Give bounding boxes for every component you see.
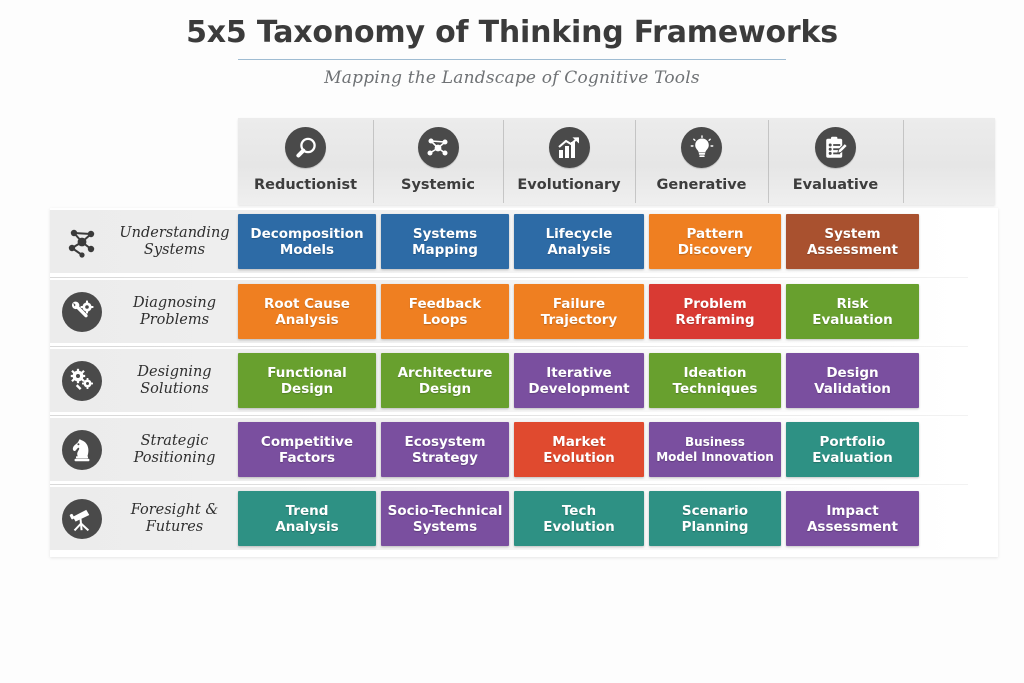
row-header-label-line1: Foresight &	[111, 502, 238, 519]
row-header-label-line1: Strategic	[111, 433, 238, 450]
matrix-cell[interactable]: FailureTrajectory	[514, 284, 644, 339]
gears-icon	[62, 361, 102, 401]
matrix-row-cells: CompetitiveFactorsEcosystemStrategyMarke…	[238, 418, 924, 481]
column-header-label: Systemic	[401, 177, 475, 193]
matrix-cell[interactable]: CompetitiveFactors	[238, 422, 376, 477]
matrix-cell-label-line1: Trend	[275, 503, 338, 519]
matrix-cell-label-line2: Analysis	[275, 519, 338, 535]
title-divider	[238, 59, 786, 60]
clipboard-pencil-icon	[815, 127, 856, 168]
matrix-cell[interactable]: SystemAssessment	[786, 214, 919, 269]
diagram-canvas: 5x5 Taxonomy of Thinking Frameworks Mapp…	[0, 0, 1024, 683]
matrix-cell-label: SystemsMapping	[407, 226, 483, 258]
matrix-cell-label: ArchitectureDesign	[393, 365, 498, 397]
title-block: 5x5 Taxonomy of Thinking Frameworks Mapp…	[0, 14, 1024, 88]
matrix-cell-label-line2: Reframing	[675, 312, 754, 328]
matrix-cell-label-line2: Analysis	[264, 312, 350, 328]
matrix-cell-label: PortfolioEvaluation	[807, 434, 897, 466]
matrix-cell-label-line2: Factors	[261, 450, 353, 466]
column-header-reductionist[interactable]: Reductionist	[238, 118, 373, 205]
matrix-cell-label-line1: Business	[656, 435, 774, 450]
column-header-evolutionary[interactable]: Evolutionary	[503, 118, 635, 205]
matrix-cell-label-line2: Design	[267, 381, 346, 397]
matrix-cell-label: BusinessModel Innovation	[651, 435, 779, 465]
matrix-cell-label-line1: Market	[543, 434, 615, 450]
matrix-cell[interactable]: RiskEvaluation	[786, 284, 919, 339]
chess-knight-icon	[62, 430, 102, 470]
matrix-cell-label: TrendAnalysis	[270, 503, 343, 535]
matrix-cell[interactable]: ProblemReframing	[649, 284, 781, 339]
matrix-cell-label-line2: Assessment	[807, 242, 898, 258]
matrix-cell-label-line1: Lifecycle	[546, 226, 613, 242]
matrix-cell-label: PatternDiscovery	[673, 226, 758, 258]
matrix-cell-label-line1: Feedback	[409, 296, 481, 312]
column-header-evaluative[interactable]: Evaluative	[768, 118, 903, 205]
matrix-cell-label-line1: Problem	[675, 296, 754, 312]
matrix-cell-label: TechEvolution	[538, 503, 620, 535]
matrix-cell[interactable]: EcosystemStrategy	[381, 422, 509, 477]
matrix-cell[interactable]: PatternDiscovery	[649, 214, 781, 269]
matrix-cell-label-line1: Failure	[541, 296, 617, 312]
matrix-cell-label-line1: Scenario	[682, 503, 749, 519]
row-separator	[50, 415, 968, 416]
matrix-cell-label: DecompositionModels	[245, 226, 368, 258]
matrix-cell-label: LifecycleAnalysis	[541, 226, 618, 258]
matrix-cell-label-line2: Design	[398, 381, 493, 397]
matrix-cell[interactable]: BusinessModel Innovation	[649, 422, 781, 477]
row-header-label-line2: Solutions	[111, 381, 238, 398]
matrix-cell-label-line2: Evolution	[543, 519, 615, 535]
matrix-cell-label-line1: Functional	[267, 365, 346, 381]
matrix-cell[interactable]: LifecycleAnalysis	[514, 214, 644, 269]
matrix-row-cells: DecompositionModelsSystemsMappingLifecyc…	[238, 210, 924, 273]
matrix-cell-label-line2: Evaluation	[812, 450, 892, 466]
row-header-label: Foresight &Futures	[111, 502, 238, 536]
row-header-label-line2: Positioning	[111, 450, 238, 467]
row-header-foresight-futures[interactable]: Foresight &Futures	[50, 487, 238, 550]
matrix-cell[interactable]: ScenarioPlanning	[649, 491, 781, 546]
matrix-cell-label: ProblemReframing	[670, 296, 759, 328]
matrix-cell-label-line1: Portfolio	[812, 434, 892, 450]
matrix-cell-label-line2: Trajectory	[541, 312, 617, 328]
matrix-cell-label: FeedbackLoops	[404, 296, 486, 328]
matrix-cell[interactable]: ImpactAssessment	[786, 491, 919, 546]
matrix-cell-label: CompetitiveFactors	[256, 434, 358, 466]
matrix-cell[interactable]: IterativeDevelopment	[514, 353, 644, 408]
column-header-systemic[interactable]: Systemic	[373, 118, 503, 205]
matrix-cell[interactable]: Root CauseAnalysis	[238, 284, 376, 339]
matrix-row: StrategicPositioningCompetitiveFactorsEc…	[50, 418, 958, 481]
matrix-cell-label-line1: Iterative	[528, 365, 629, 381]
growth-chart-icon	[549, 127, 590, 168]
matrix-cell-label-line2: Development	[528, 381, 629, 397]
matrix-cell[interactable]: PortfolioEvaluation	[786, 422, 919, 477]
matrix-cell-label-line1: System	[807, 226, 898, 242]
matrix-cell-label: SystemAssessment	[802, 226, 903, 258]
matrix-cell-label-line1: Decomposition	[250, 226, 363, 242]
matrix-cell[interactable]: ArchitectureDesign	[381, 353, 509, 408]
matrix-cell-label: Root CauseAnalysis	[259, 296, 355, 328]
matrix-cell-label-line1: Competitive	[261, 434, 353, 450]
column-header-generative[interactable]: Generative	[635, 118, 768, 205]
matrix-cell-label: IterativeDevelopment	[523, 365, 634, 397]
matrix-cell-label-line1: Socio-Technical	[388, 503, 503, 519]
row-header-diagnosing-problems[interactable]: DiagnosingProblems	[50, 280, 238, 343]
column-header-label: Reductionist	[254, 177, 357, 193]
page-title: 5x5 Taxonomy of Thinking Frameworks	[0, 14, 1024, 52]
column-header-label: Generative	[656, 177, 746, 193]
column-header-label: Evaluative	[793, 177, 878, 193]
matrix-body: UnderstandingSystemsDecompositionModelsS…	[50, 208, 998, 557]
matrix-row-cells: Root CauseAnalysisFeedbackLoopsFailureTr…	[238, 280, 924, 343]
matrix-cell[interactable]: Socio-TechnicalSystems	[381, 491, 509, 546]
row-separator	[50, 346, 968, 347]
row-header-label-line2: Futures	[111, 519, 238, 536]
matrix-cell-label: FailureTrajectory	[536, 296, 622, 328]
telescope-icon	[62, 499, 102, 539]
matrix-cell-label-line2: Assessment	[807, 519, 898, 535]
row-header-label: DiagnosingProblems	[111, 295, 238, 329]
matrix-cell[interactable]: TechEvolution	[514, 491, 644, 546]
matrix-cell-label-line2: Validation	[814, 381, 891, 397]
matrix-cell-label-line1: Architecture	[398, 365, 493, 381]
matrix-cell-label: IdeationTechniques	[668, 365, 763, 397]
molecule-network-icon	[62, 222, 102, 262]
row-header-label: StrategicPositioning	[111, 433, 238, 467]
magnifier-icon	[285, 127, 326, 168]
matrix-cell[interactable]: DecompositionModels	[238, 214, 376, 269]
matrix-cell[interactable]: FeedbackLoops	[381, 284, 509, 339]
matrix-cell-label-line2: Techniques	[673, 381, 758, 397]
row-header-label-line1: Designing	[111, 364, 238, 381]
matrix-cell-label-line2: Systems	[388, 519, 503, 535]
matrix-cell-label-line1: Impact	[807, 503, 898, 519]
network-nodes-icon	[418, 127, 459, 168]
row-header-label-line1: Understanding	[111, 225, 238, 242]
row-header-label-line2: Problems	[111, 312, 238, 329]
matrix-cell-label-line2: Model Innovation	[656, 450, 774, 465]
matrix-cell-label-line2: Analysis	[546, 242, 613, 258]
column-header-label: Evolutionary	[517, 177, 620, 193]
matrix-cell[interactable]: FunctionalDesign	[238, 353, 376, 408]
matrix-cell-label: ImpactAssessment	[802, 503, 903, 535]
matrix-cell[interactable]: SystemsMapping	[381, 214, 509, 269]
matrix-cell[interactable]: MarketEvolution	[514, 422, 644, 477]
row-header-strategic-positioning[interactable]: StrategicPositioning	[50, 418, 238, 481]
row-header-label-line2: Systems	[111, 242, 238, 259]
matrix-cell-label-line1: Tech	[543, 503, 615, 519]
matrix-cell[interactable]: TrendAnalysis	[238, 491, 376, 546]
matrix-cell-label: DesignValidation	[809, 365, 896, 397]
matrix-cell-label-line1: Risk	[812, 296, 892, 312]
column-header-band: ReductionistSystemicEvolutionaryGenerati…	[238, 118, 995, 205]
matrix-row: DiagnosingProblemsRoot CauseAnalysisFeed…	[50, 280, 958, 343]
matrix-cell-label-line2: Discovery	[678, 242, 753, 258]
matrix-cell-label: Socio-TechnicalSystems	[383, 503, 508, 535]
matrix-row: UnderstandingSystemsDecompositionModelsS…	[50, 210, 958, 273]
matrix-cell-label-line2: Evolution	[543, 450, 615, 466]
matrix-cell-label-line1: Design	[814, 365, 891, 381]
matrix-cell-label-line2: Mapping	[412, 242, 478, 258]
row-separator	[50, 484, 968, 485]
matrix-cell-label-line2: Models	[250, 242, 363, 258]
row-header-label: DesigningSolutions	[111, 364, 238, 398]
matrix-cell-label-line2: Strategy	[404, 450, 485, 466]
matrix-cell-label-line1: Pattern	[678, 226, 753, 242]
matrix-row: Foresight &FuturesTrendAnalysisSocio-Tec…	[50, 487, 958, 550]
matrix-row-cells: TrendAnalysisSocio-TechnicalSystemsTechE…	[238, 487, 924, 550]
row-separator	[50, 277, 968, 278]
page-subtitle: Mapping the Landscape of Cognitive Tools	[0, 68, 1024, 88]
matrix-cell-label-line1: Ideation	[673, 365, 758, 381]
matrix-cell-label-line1: Systems	[412, 226, 478, 242]
matrix-cell-label: ScenarioPlanning	[677, 503, 754, 535]
matrix-row: DesigningSolutionsFunctionalDesignArchit…	[50, 349, 958, 412]
matrix-cell[interactable]: IdeationTechniques	[649, 353, 781, 408]
lightbulb-icon	[681, 127, 722, 168]
matrix-cell-label-line1: Ecosystem	[404, 434, 485, 450]
matrix-cell-label: FunctionalDesign	[262, 365, 351, 397]
row-header-designing-solutions[interactable]: DesigningSolutions	[50, 349, 238, 412]
matrix-cell-label-line2: Evaluation	[812, 312, 892, 328]
matrix-cell[interactable]: DesignValidation	[786, 353, 919, 408]
matrix-cell-label: MarketEvolution	[538, 434, 620, 466]
matrix-row-cells: FunctionalDesignArchitectureDesignIterat…	[238, 349, 924, 412]
row-header-label-line1: Diagnosing	[111, 295, 238, 312]
wrench-gear-icon	[62, 292, 102, 332]
column-header-spacer	[903, 118, 995, 205]
matrix-cell-label-line2: Loops	[409, 312, 481, 328]
matrix-cell-label: RiskEvaluation	[807, 296, 897, 328]
matrix-cell-label: EcosystemStrategy	[399, 434, 490, 466]
row-header-label: UnderstandingSystems	[111, 225, 238, 259]
matrix-cell-label-line1: Root Cause	[264, 296, 350, 312]
matrix-cell-label-line2: Planning	[682, 519, 749, 535]
row-header-understanding-systems[interactable]: UnderstandingSystems	[50, 210, 238, 273]
